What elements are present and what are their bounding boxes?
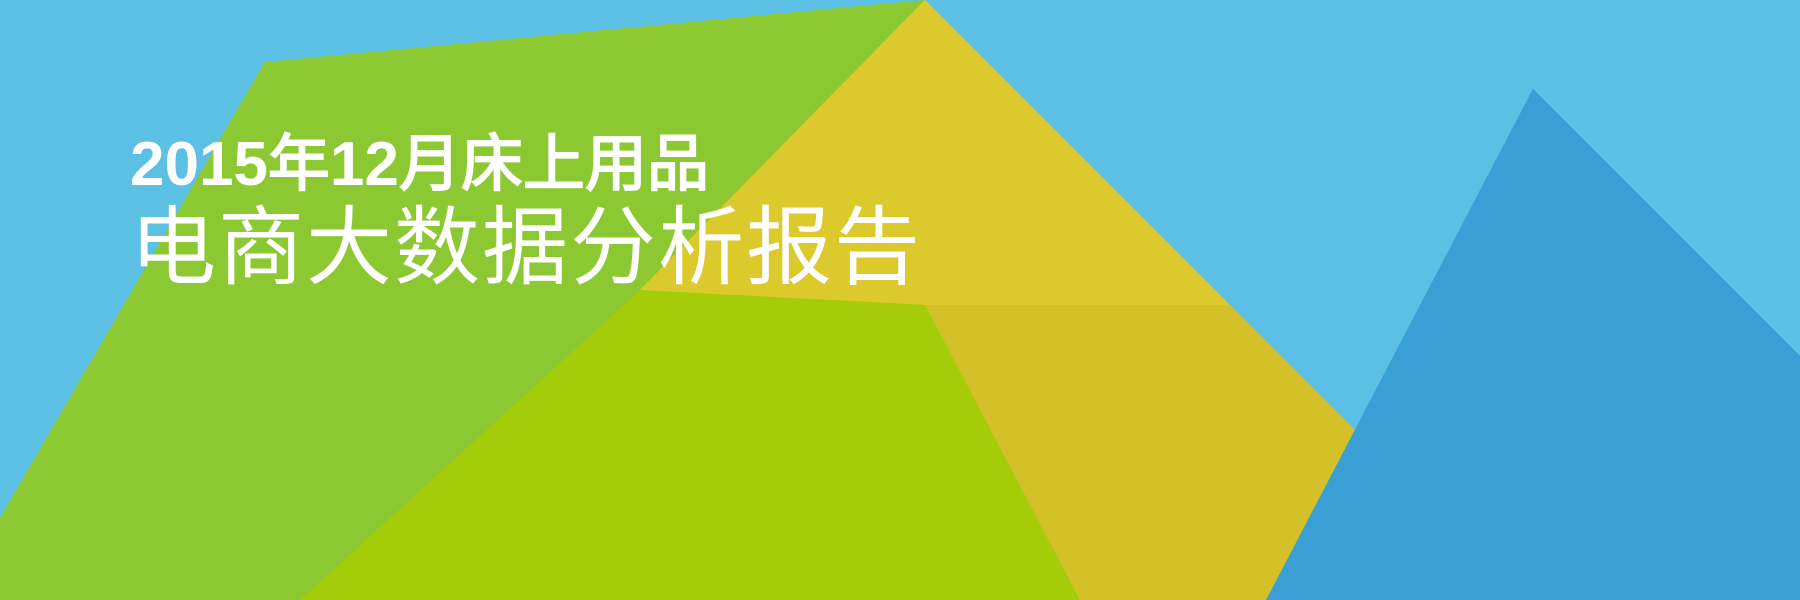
page-title-line-1: 2015年12月床上用品 <box>130 130 1230 199</box>
title-block: 2015年12月床上用品 电商大数据分析报告 <box>130 130 1230 299</box>
cover-slide: 2015年12月床上用品 电商大数据分析报告 <box>0 0 1800 600</box>
background-artwork <box>0 0 1800 600</box>
page-title-line-2: 电商大数据分析报告 <box>130 199 1230 299</box>
